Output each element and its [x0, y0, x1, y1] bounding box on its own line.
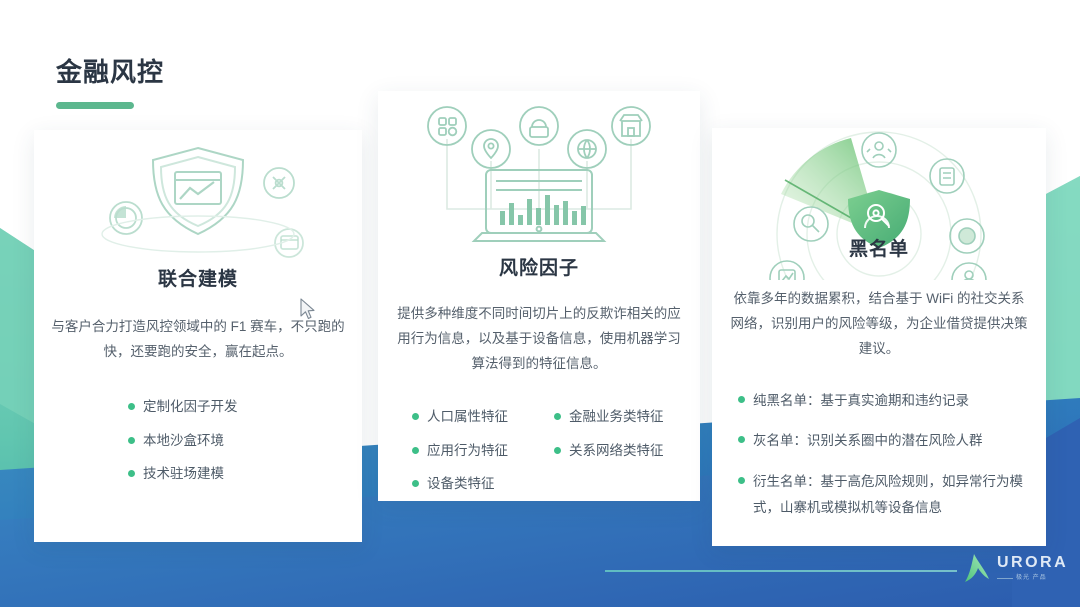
feature-list: 纯黑名单：基于真实逾期和违约记录 灰名单：识别关系圈中的潜在风险人群 衍生名单：… — [712, 388, 1046, 521]
aurora-a-mark-icon — [958, 552, 992, 584]
feature-list: 定制化因子开发 本地沙盒环境 技术驻场建模 — [34, 395, 362, 486]
list-item: 本地沙盒环境 — [128, 429, 344, 453]
list-item: 定制化因子开发 — [128, 395, 344, 419]
list-item: 设备类特征 — [412, 472, 548, 496]
bullet-dot-icon — [554, 447, 561, 454]
bullet-dot-icon — [412, 480, 419, 487]
list-item: 关系网络类特征 — [554, 439, 690, 463]
shield-chart-icon — [34, 130, 362, 258]
bullet-dot-icon — [738, 436, 745, 443]
bullet-dot-icon — [412, 413, 419, 420]
card-joint-modeling[interactable]: 联合建模 与客户合力打造风控领域中的 F1 赛车，不只跑的快，还要跑的安全，赢在… — [34, 130, 362, 542]
bullet-dot-icon — [412, 447, 419, 454]
card-description: 提供多种维度不同时间切片上的反欺诈相关的应用行为信息，以及基于设备信息，使用机器… — [391, 302, 687, 377]
bullet-dot-icon — [128, 437, 135, 444]
logo-sub-text: 极光 产品 — [1016, 575, 1047, 581]
list-item: 纯黑名单：基于真实逾期和违约记录 — [738, 388, 1032, 414]
logo-sub-bar — [997, 578, 1013, 579]
bullet-dot-icon — [738, 396, 745, 403]
card-description: 与客户合力打造风控领域中的 F1 赛车，不只跑的快，还要跑的安全，赢在起点。 — [50, 315, 346, 365]
card-blacklist[interactable]: 黑名单 依靠多年的数据累积，结合基于 WiFi 的社交关系网络，识别用户的风险等… — [712, 128, 1046, 546]
feature-list: 人口属性特征 金融业务类特征 应用行为特征 关系网络类特征 设备类特征 — [378, 405, 700, 506]
laptop-analytics-icon — [378, 91, 700, 251]
card-title: 风险因子 — [378, 253, 700, 280]
card-risk-factors[interactable]: 风险因子 提供多种维度不同时间切片上的反欺诈相关的应用行为信息，以及基于设备信息… — [378, 91, 700, 501]
list-item: 金融业务类特征 — [554, 405, 690, 429]
title-underline — [56, 102, 134, 109]
logo-subtitle: 极光 产品 — [997, 575, 1068, 581]
bullet-dot-icon — [554, 413, 561, 420]
bullet-dot-icon — [128, 470, 135, 477]
page-header: 金融风控 — [56, 58, 164, 109]
mouse-cursor-icon — [299, 298, 317, 322]
card-description: 依靠多年的数据累积，结合基于 WiFi 的社交关系网络，识别用户的风险等级，为企… — [730, 287, 1028, 362]
list-item: 衍生名单：基于高危风险规则，如异常行为模式，山寨机或模拟机等设备信息 — [738, 469, 1032, 522]
page-title: 金融风控 — [56, 58, 164, 87]
brand-logo: URORA 极光 产品 — [958, 552, 1068, 584]
card-title: 黑名单 — [712, 234, 1046, 261]
list-item: 技术驻场建模 — [128, 462, 344, 486]
card-title: 联合建模 — [34, 264, 362, 291]
footer-divider — [605, 570, 957, 572]
list-item: 应用行为特征 — [412, 439, 548, 463]
list-item: 灰名单：识别关系圈中的潜在风险人群 — [738, 428, 1032, 454]
logo-name: URORA — [997, 555, 1068, 571]
bullet-dot-icon — [738, 477, 745, 484]
list-item: 人口属性特征 — [412, 405, 548, 429]
bullet-dot-icon — [128, 403, 135, 410]
